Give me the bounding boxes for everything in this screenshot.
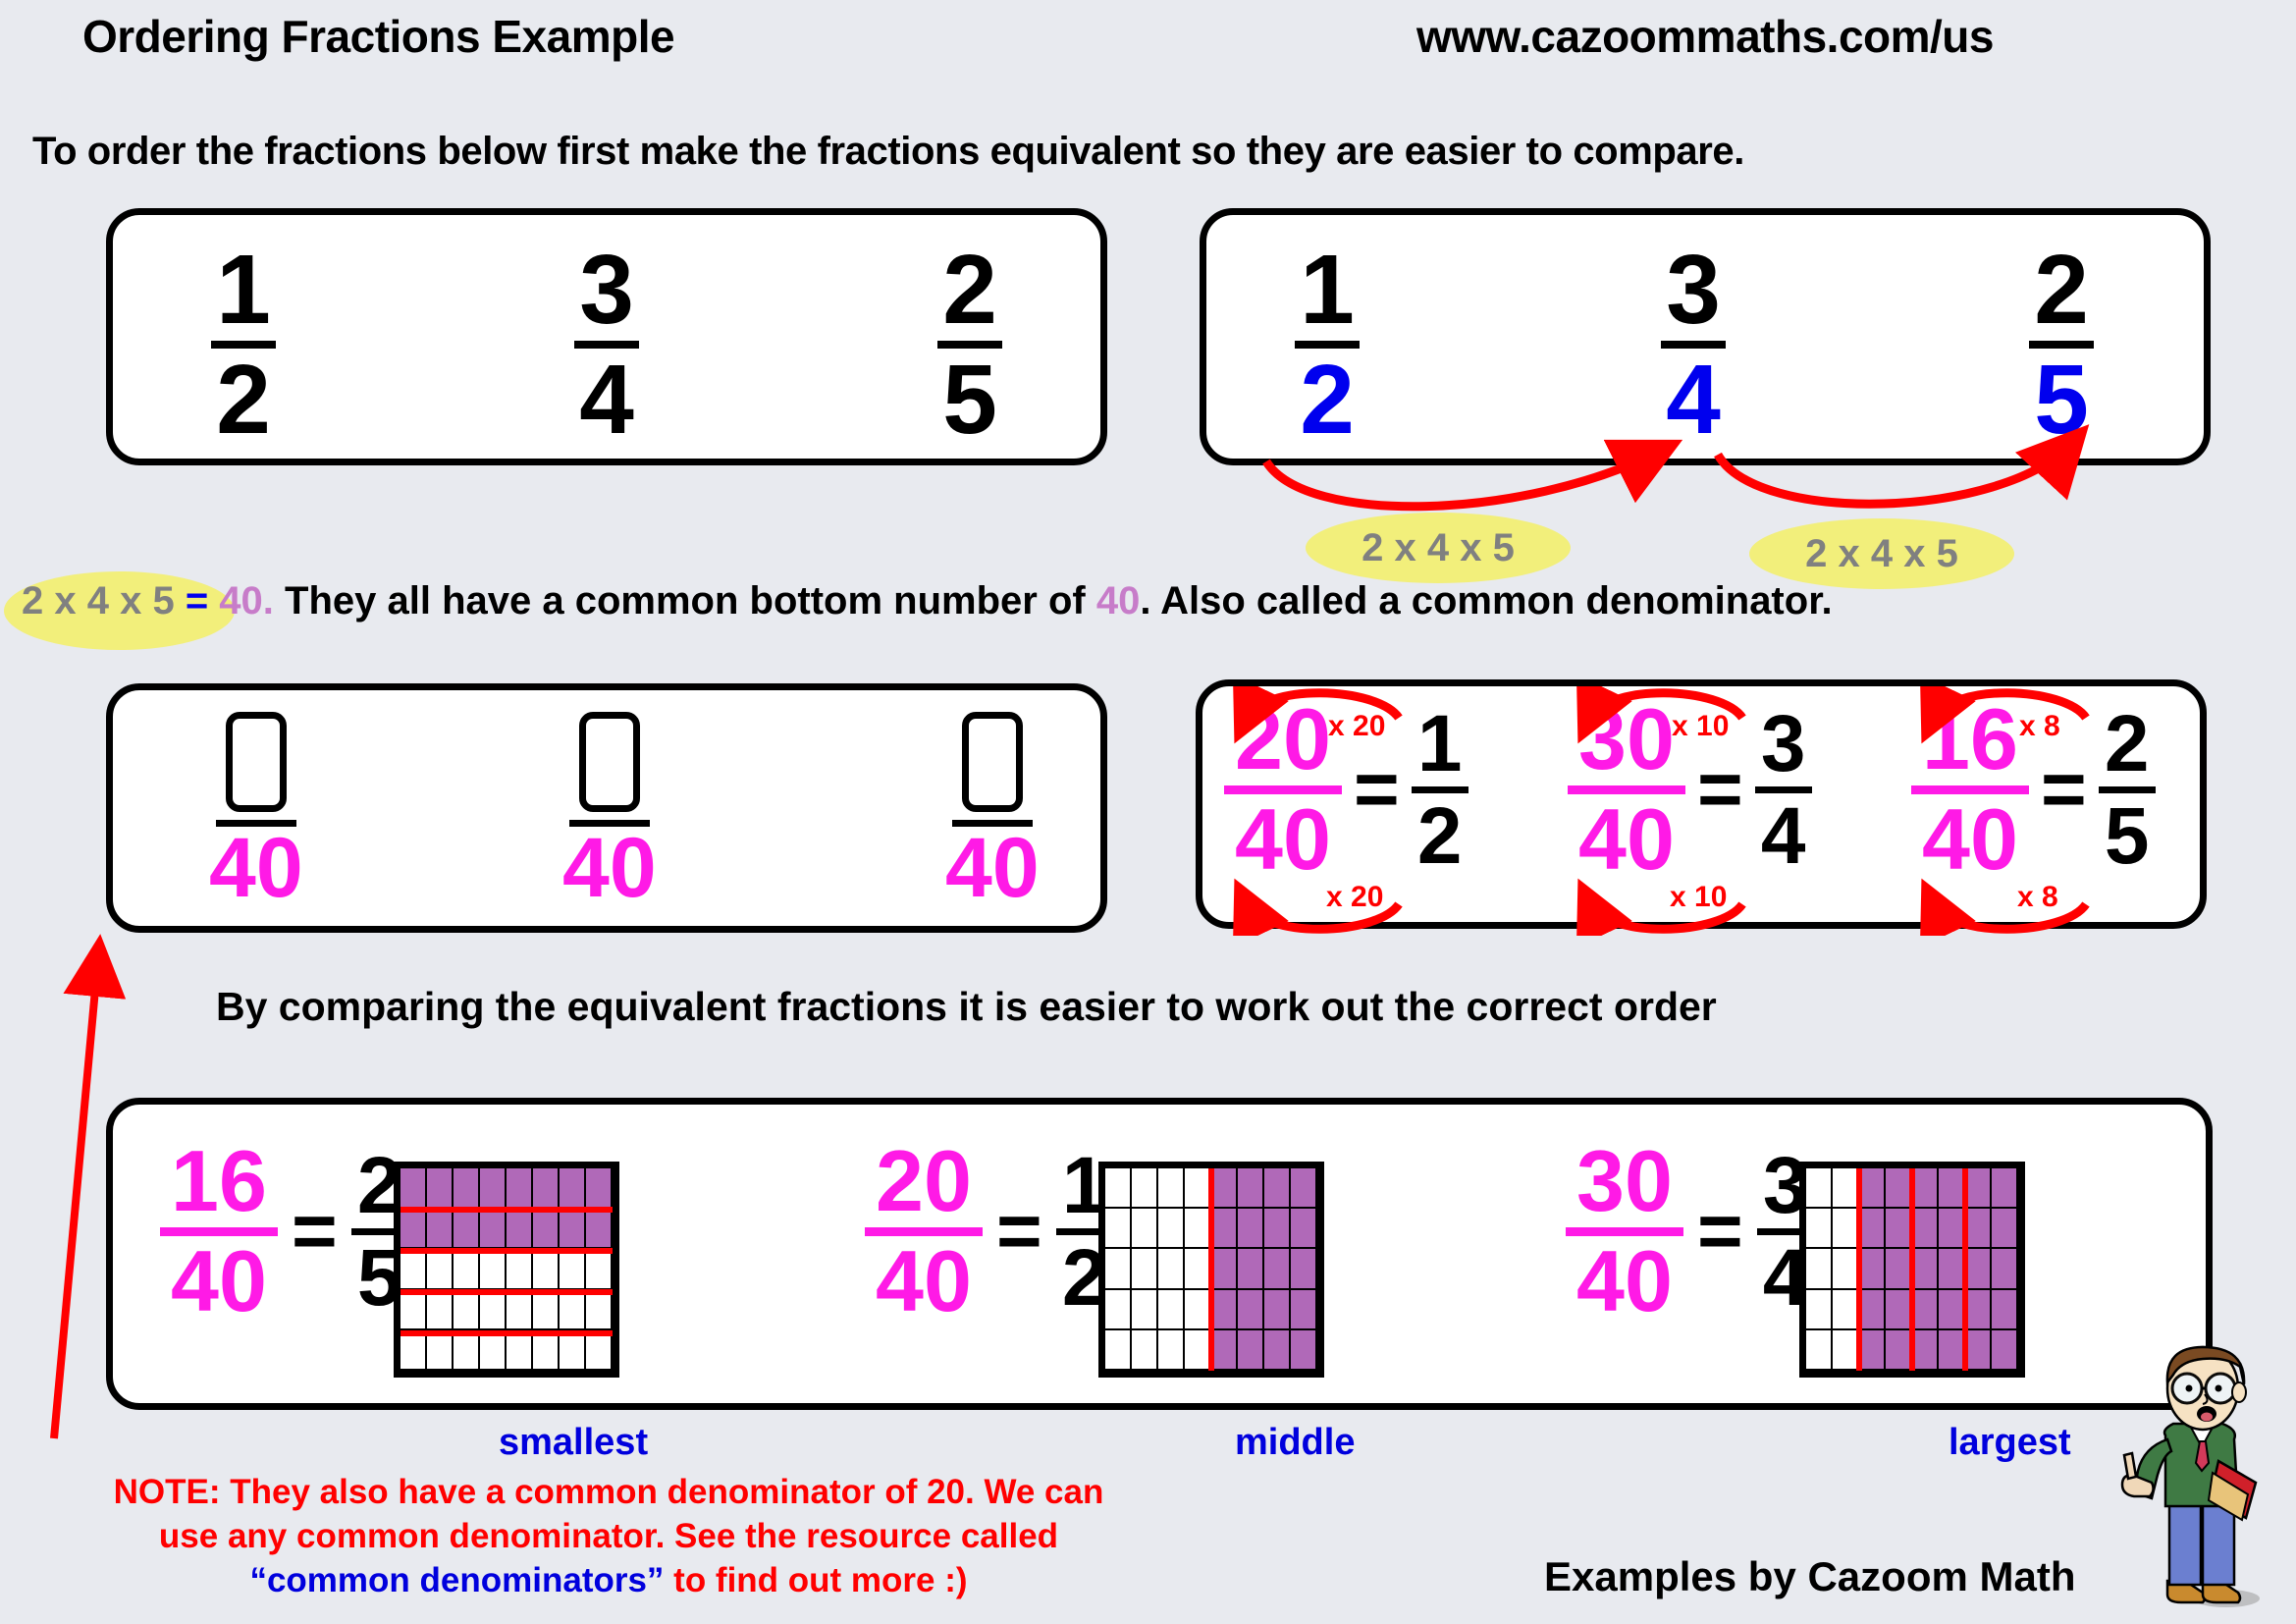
denominator: 40: [209, 829, 303, 909]
numerator: 3: [1666, 244, 1721, 335]
numerator: 2: [2034, 244, 2089, 335]
numerator: 1: [1300, 244, 1355, 335]
numerator: 16: [1922, 700, 2018, 780]
fraction-1-2: 1 2: [211, 244, 276, 445]
equals-sign: =: [1354, 750, 1400, 829]
numerator: 1: [1417, 707, 1463, 781]
note-line-2: use any common denominator. See the reso…: [29, 1515, 1188, 1559]
arrow-to-blank-panel: [54, 957, 98, 1438]
grid-3-of-4: [1799, 1162, 2025, 1378]
denominator: 40: [945, 829, 1040, 909]
comparison-instruction: By comparing the equivalent fractions it…: [216, 984, 1717, 1030]
order-label-largest: largest: [1949, 1422, 2071, 1464]
fraction-equivalent: 16 40: [160, 1142, 278, 1322]
fraction-original: 1 2: [1412, 707, 1468, 874]
grid-2-of-5: [394, 1162, 619, 1378]
note-line-1: NOTE: They also have a common denominato…: [29, 1471, 1188, 1515]
site-url: www.cazoommaths.com/us: [1416, 10, 1994, 63]
denominator: 40: [1576, 1242, 1673, 1322]
sentence-part-c: . Also called a common denominator.: [1140, 579, 1832, 623]
note-resource-name: “common denominators”: [249, 1561, 664, 1599]
multiplier-bottom-2: x 10: [1670, 881, 1727, 914]
page-title: Ordering Fractions Example: [82, 10, 674, 63]
comparison-item-middle: 20 40 = 1 2: [865, 1142, 1113, 1322]
numerator: 30: [1576, 1142, 1673, 1221]
fraction-original: 2 5: [2099, 707, 2156, 874]
callout-text: 2 x 4 x 5: [1805, 532, 1958, 576]
panel-original-fractions: 1 2 3 4 2 5: [106, 208, 1107, 465]
panel-equivalent-fractions: 20 40 = 1 2 x 20 x 20 30 40 = 3: [1196, 679, 2207, 929]
multiplier-bottom-3: x 8: [2017, 881, 2058, 914]
blank-fraction-3: 40: [945, 712, 1040, 909]
numerator: 3: [579, 244, 634, 335]
comparison-item-smallest: 16 40 = 2 5: [160, 1142, 408, 1322]
fraction-3-4-blue-den: 3 4: [1661, 244, 1726, 445]
order-label-middle: middle: [1235, 1422, 1355, 1464]
denominator: 2: [1300, 354, 1355, 445]
denominator: 4: [1761, 799, 1806, 873]
denominator: 2: [1417, 799, 1463, 873]
division-line: [1962, 1168, 1968, 1371]
denominator: 40: [562, 829, 657, 909]
order-label-smallest: smallest: [499, 1422, 648, 1464]
equals-sign: =: [1697, 1192, 1743, 1271]
division-line: [1856, 1168, 1862, 1371]
numerator-input-box-2[interactable]: [579, 712, 640, 812]
numerator: 2: [2105, 707, 2150, 781]
fraction-3-4: 3 4: [574, 244, 639, 445]
numerator: 2: [942, 244, 997, 335]
equals-sign: =: [2041, 750, 2087, 829]
numerator-input-box-3[interactable]: [962, 712, 1023, 812]
numerator: 3: [1761, 707, 1806, 781]
numerator: 1: [216, 244, 271, 335]
blank-fraction-1: 40: [209, 712, 303, 909]
division-line: [1208, 1168, 1214, 1371]
footer-note: NOTE: They also have a common denominato…: [29, 1471, 1188, 1602]
denominator: 5: [2034, 354, 2089, 445]
fraction-equivalent: 30 40: [1566, 1142, 1683, 1322]
common-value: 40: [1096, 579, 1141, 623]
intro-instruction: To order the fractions below first make …: [32, 130, 1744, 174]
fraction-2-5: 2 5: [937, 244, 1002, 445]
blank-fraction-2: 40: [562, 712, 657, 909]
fraction-equivalent: 20 40: [865, 1142, 983, 1322]
division-line: [400, 1289, 613, 1295]
note-line-3-tail: to find out more :): [664, 1561, 967, 1599]
denominator: 40: [171, 1242, 267, 1322]
fraction-2-5-blue-den: 2 5: [2029, 244, 2094, 445]
equals-sign: =: [1697, 750, 1743, 829]
equals-sign: =: [186, 579, 208, 623]
multiplier-top-2: x 10: [1672, 710, 1729, 743]
grid-cells: [400, 1168, 613, 1371]
panel-highlighted-denominators: 1 2 3 4 2 5: [1200, 208, 2211, 465]
teacher-mascot-icon: [2109, 1345, 2285, 1610]
fraction-equivalent: 16 40: [1911, 700, 2029, 880]
numerator: 20: [1235, 700, 1331, 780]
numerator: 20: [876, 1142, 972, 1221]
common-denominator-sentence: 2 x 4 x 5 = 40. They all have a common b…: [22, 579, 1833, 623]
equals-sign: =: [996, 1192, 1042, 1271]
denominator: 5: [942, 354, 997, 445]
numerator: 16: [171, 1142, 267, 1221]
sentence-part-a: They all have a common bottom number of: [285, 579, 1086, 623]
denominator: 4: [579, 354, 634, 445]
callout-text: 2 x 4 x 5: [1362, 526, 1515, 570]
worksheet-page: Ordering Fractions Example www.cazoommat…: [0, 0, 2296, 1624]
panel-blank-numerators: 40 40 40: [106, 683, 1107, 933]
denominator: 40: [876, 1242, 972, 1322]
callout-product-left: 2 x 4 x 5: [1306, 513, 1571, 583]
comparison-item-largest: 30 40 = 3 4: [1566, 1142, 1814, 1322]
division-line: [1909, 1168, 1915, 1371]
result-value: 40.: [219, 579, 274, 623]
denominator: 40: [1235, 800, 1331, 880]
fraction-equivalent: 20 40: [1224, 700, 1342, 880]
multiplier-top-3: x 8: [2019, 710, 2060, 743]
panel-ordered-comparison: 16 40 = 2 5: [106, 1098, 2213, 1410]
expression-text: 2 x 4 x 5: [22, 579, 175, 623]
denominator: 4: [1666, 354, 1721, 445]
note-line-3: “common denominators” to find out more :…: [29, 1559, 1188, 1603]
denominator: 40: [1578, 800, 1675, 880]
numerator: 30: [1578, 700, 1675, 780]
division-line: [400, 1207, 613, 1213]
denominator: 40: [1922, 800, 2018, 880]
denominator: 2: [216, 354, 271, 445]
equals-sign: =: [292, 1192, 338, 1271]
fraction-equivalent: 30 40: [1568, 700, 1685, 880]
fraction-original: 3 4: [1755, 707, 1812, 874]
multiplier-bottom-1: x 20: [1326, 881, 1383, 914]
numerator-input-box-1[interactable]: [226, 712, 287, 812]
grid-1-of-2: [1098, 1162, 1324, 1378]
multiplier-top-1: x 20: [1328, 710, 1385, 743]
fraction-1-2-blue-den: 1 2: [1295, 244, 1360, 445]
byline: Examples by Cazoom Math: [1544, 1553, 2075, 1600]
division-line: [400, 1248, 613, 1254]
denominator: 5: [2105, 799, 2150, 873]
division-line: [400, 1330, 613, 1336]
